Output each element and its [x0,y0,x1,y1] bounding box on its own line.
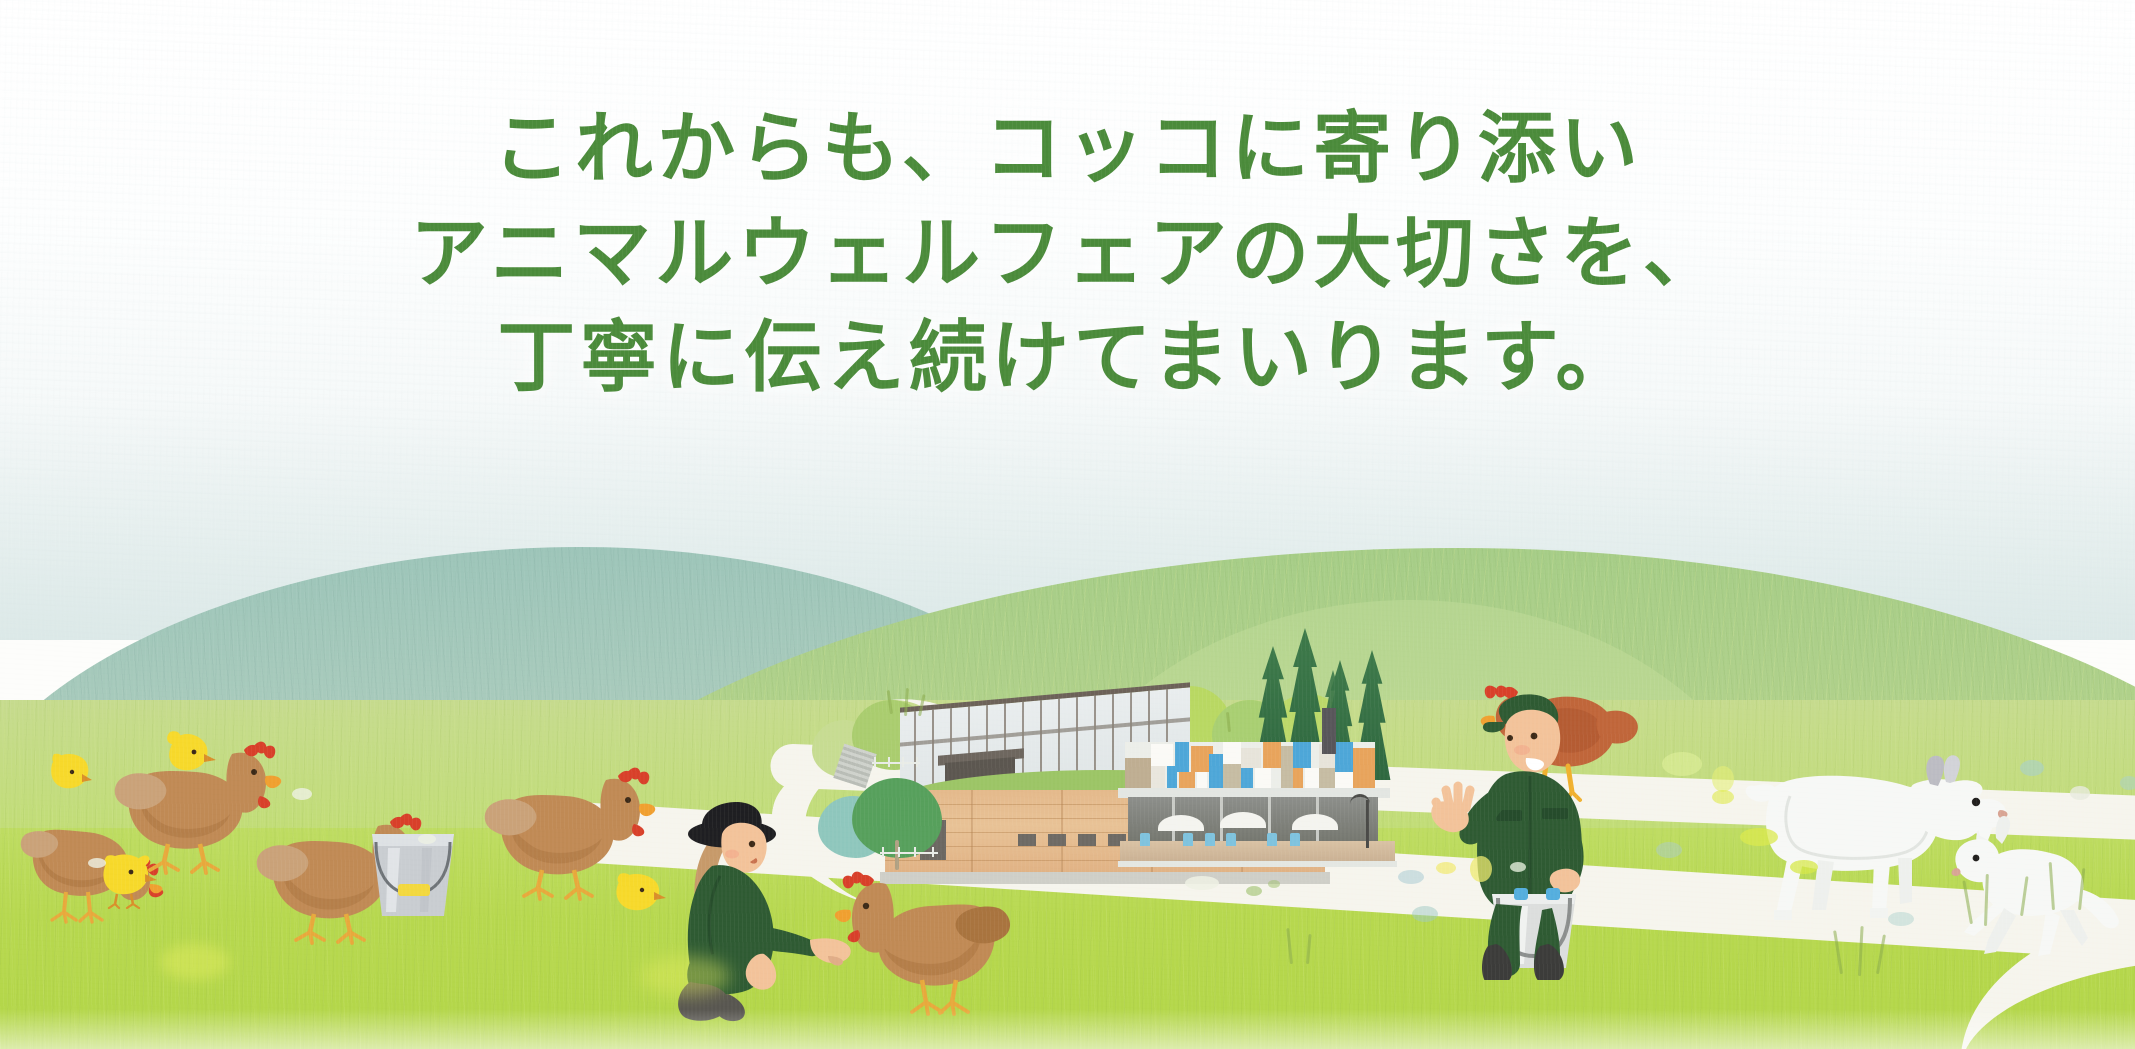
hillside-fence [872,762,920,764]
goat-kid [1950,806,2135,966]
terrace-chair [1290,833,1300,846]
terrace-chair [1140,833,1150,846]
chick-on-hen-back [167,731,216,770]
barn-vent [1018,834,1036,846]
chick-walking-left [95,840,165,910]
chick-standing-left [42,740,102,800]
terrace-chair [1226,833,1236,846]
walking-farmer [1430,650,1680,980]
headline-line-2: アニマルウェルフェアの大切さを、 [0,201,2135,306]
terrace-lamp [1366,800,1369,848]
cafe-chimney [1322,708,1336,754]
headline-line-3: 丁寧に伝え続けてまいります。 [0,305,2135,410]
barn-vent [1078,834,1096,846]
page-title: これからも、コッコに寄り添い アニマルウェルフェアの大切さを、 丁寧に伝え続けて… [0,96,2135,410]
terrace-chair [1183,833,1193,846]
terrace-chair [1267,833,1277,846]
cafe-terrace [1120,841,1395,863]
hero-banner: これからも、コッコに寄り添い アニマルウェルフェアの大切さを、 丁寧に伝え続けて… [0,0,2135,1049]
terrace-railing [1118,861,1397,867]
metal-bucket-ground [358,812,468,932]
cafe-building [1125,742,1375,790]
terrace-chair [1205,833,1215,846]
hen-facing-farmer [828,852,1018,1032]
headline-line-1: これからも、コッコに寄り添い [0,96,2135,201]
barn-vent [1048,834,1066,846]
